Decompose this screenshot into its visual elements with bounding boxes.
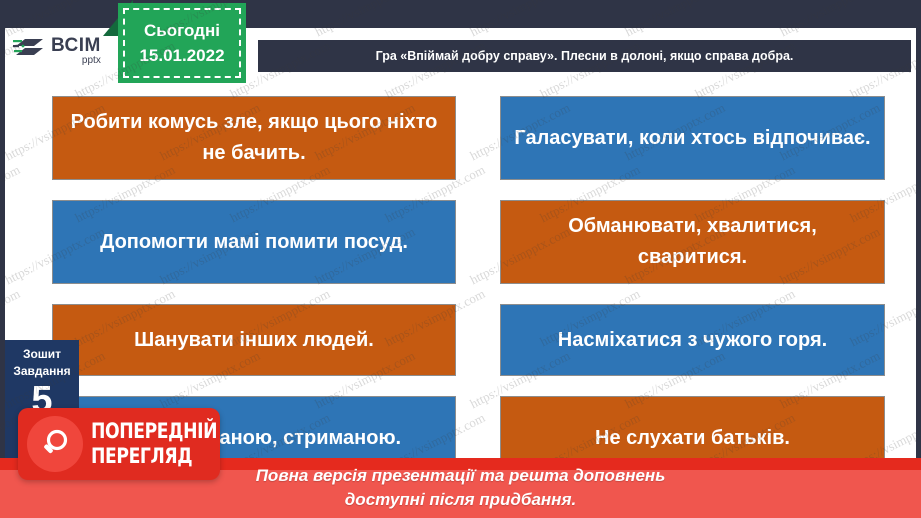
- deed-card[interactable]: Галасувати, коли хтось відпочиває.: [500, 96, 885, 180]
- deed-card-text: Робити комусь зле, якщо цього ніхто не б…: [63, 107, 445, 169]
- deed-card-text: Галасувати, коли хтось відпочиває.: [514, 123, 870, 154]
- deed-card-text: Шанувати інших людей.: [134, 325, 374, 356]
- deed-card-text: Допомогти мамі помити посуд.: [100, 227, 408, 258]
- deed-card-text: Обманювати, хвалитися, сваритися.: [511, 211, 874, 273]
- date-badge-label: Сьогодні: [144, 18, 220, 43]
- date-badge-value: 15.01.2022: [139, 43, 224, 68]
- page-title: Гра «Впіймай добру справу». Плесни в дол…: [376, 49, 794, 63]
- date-badge: Сьогодні 15.01.2022: [118, 3, 246, 83]
- slide-title-bar: Гра «Впіймай добру справу». Плесни в дол…: [258, 40, 911, 72]
- preview-watermark-badge: ПОПЕРЕДНІЙ ПЕРЕГЛЯД: [18, 408, 220, 480]
- graduation-cap-icon: [13, 35, 47, 66]
- deed-card[interactable]: Обманювати, хвалитися, сваритися.: [500, 200, 885, 284]
- deed-card[interactable]: Робити комусь зле, якщо цього ніхто не б…: [52, 96, 456, 180]
- deed-card[interactable]: Допомогти мамі помити посуд.: [52, 200, 456, 284]
- deed-card-text: Насміхатися з чужого горя.: [558, 325, 827, 356]
- preview-badge-line1: ПОПЕРЕДНІЙ: [91, 419, 217, 444]
- presentation-slide: ВСІМ pptx Сьогодні 15.01.2022 Гра «Впійм…: [0, 0, 921, 518]
- purchase-notice-line1: Повна версія презентації та решта доповн…: [256, 464, 666, 488]
- deed-card[interactable]: Насміхатися з чужого горя.: [500, 304, 885, 376]
- deed-card[interactable]: Шанувати інших людей.: [52, 304, 456, 376]
- logo-subtitle: pptx: [51, 56, 101, 66]
- preview-badge-line2: ПЕРЕГЛЯД: [91, 444, 217, 469]
- deed-card-text: Не слухати батьків.: [595, 423, 790, 454]
- logo-title: ВСІМ: [51, 36, 101, 55]
- notebook-badge-line1: Зошит: [5, 346, 79, 363]
- purchase-notice-line2: доступні після придбання.: [345, 488, 576, 512]
- magnifier-icon: [27, 416, 83, 472]
